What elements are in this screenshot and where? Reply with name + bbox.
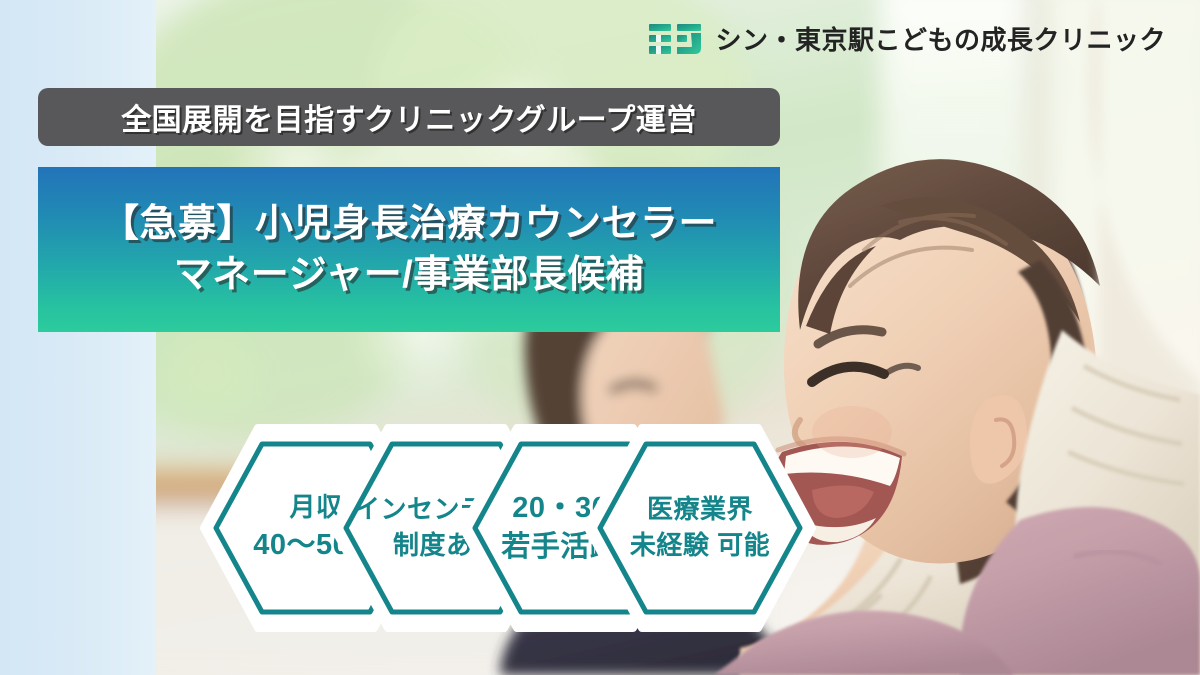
hexagon-shape-icon [584, 424, 816, 632]
shin-logo-mark-icon [647, 20, 703, 60]
badge-row: 月収 40〜50万 インセンティブ 制度あり 20・30代 若手活躍中 [0, 424, 1200, 632]
badge-no-experience: 医療業界 未経験 可能 [584, 424, 816, 632]
headline-block: 【急募】小児身長治療カウンセラー マネージャー/事業部長候補 [38, 167, 780, 332]
kicker-bar: 全国展開を目指すクリニックグループ運営 [38, 88, 780, 146]
kicker-text: 全国展開を目指すクリニックグループ運営 [121, 95, 697, 139]
headline-line-1: 【急募】小児身長治療カウンセラー [101, 200, 717, 249]
clinic-name: シン・東京駅こどもの成長クリニック [715, 27, 1166, 53]
recruitment-banner: シン・東京駅こどもの成長クリニック 全国展開を目指すクリニックグループ運営 【急… [0, 0, 1200, 675]
brand-logo: シン・東京駅こどもの成長クリニック [647, 20, 1166, 60]
headline-line-2: マネージャー/事業部長候補 [174, 251, 644, 300]
